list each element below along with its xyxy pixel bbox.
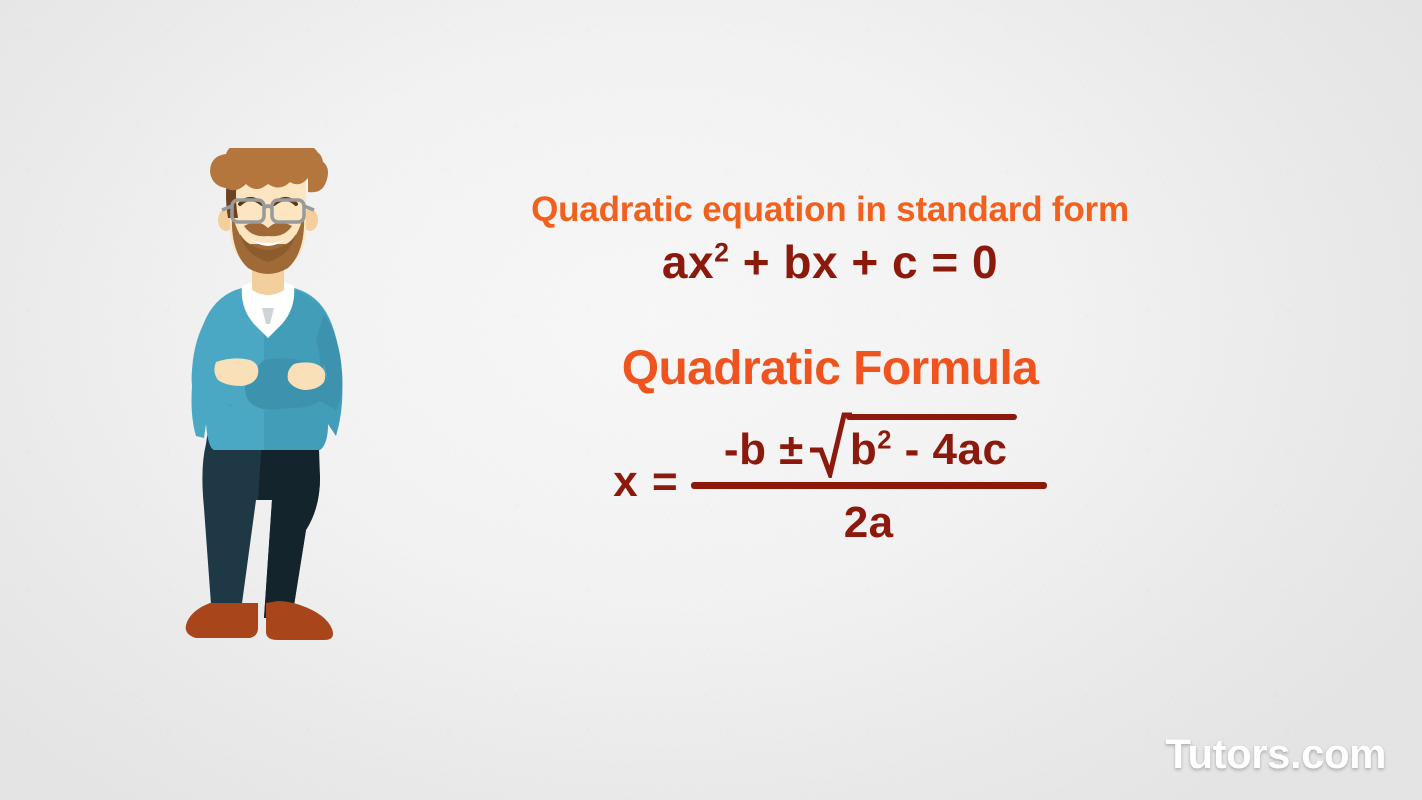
character-illustration (168, 148, 368, 648)
slide-canvas: Quadratic equation in standard form ax2 … (0, 0, 1422, 800)
standard-form-heading: Quadratic equation in standard form (430, 190, 1230, 230)
standard-form-term-a: ax (662, 236, 714, 288)
standard-form-equation: ax2 + bx + c = 0 (430, 236, 1230, 289)
standard-form-section: Quadratic equation in standard form ax2 … (430, 190, 1230, 289)
radical-vinculum (846, 414, 1018, 420)
quadratic-formula-section: Quadratic Formula x = -b ± b2 - 4ac (430, 343, 1230, 545)
fraction: -b ± b2 - 4ac 2a (691, 414, 1047, 545)
standard-form-exponent: 2 (714, 238, 729, 268)
square-root-icon (810, 412, 852, 478)
radicand-base: b (850, 425, 877, 474)
square-root-expression: b2 - 4ac (810, 414, 1014, 476)
formula-left-hand-side: x = (613, 451, 678, 507)
radicand-rest: - 4ac (892, 425, 1008, 474)
radicand-exponent: 2 (877, 426, 892, 454)
fraction-denominator: 2a (844, 501, 894, 545)
shoes (186, 601, 333, 640)
fraction-numerator: -b ± b2 - 4ac (724, 414, 1014, 480)
quadratic-formula-equation: x = -b ± b2 - 4ac 2a (430, 414, 1230, 545)
standard-form-rest: + bx + c = 0 (729, 236, 998, 288)
watermark-logo: Tutors.com (1165, 730, 1386, 778)
math-content: Quadratic equation in standard form ax2 … (430, 190, 1230, 545)
head (210, 148, 328, 274)
fraction-bar (691, 482, 1047, 489)
radicand: b2 - 4ac (850, 428, 1014, 476)
quadratic-formula-heading: Quadratic Formula (430, 343, 1230, 396)
numerator-minus-b-plus-minus: -b ± (724, 428, 810, 476)
